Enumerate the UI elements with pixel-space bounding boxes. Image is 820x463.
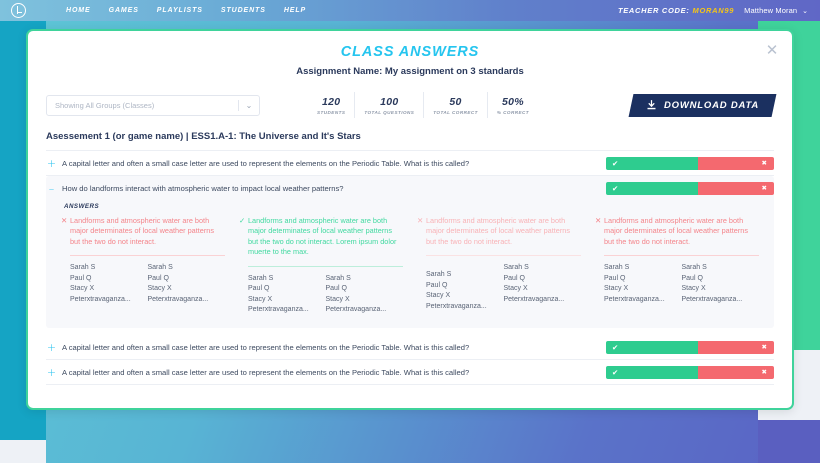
top-navigation-bar: HOME GAMES PLAYLISTS STUDENTS HELP TEACH… xyxy=(0,0,820,21)
student-names: Sarah S Paul Q Stacy X Peterxtravaganza.… xyxy=(604,263,759,305)
x-icon: ✖ xyxy=(762,368,767,376)
answer-option[interactable]: ✕ Landforms and atmospheric water are bo… xyxy=(54,216,232,316)
primary-nav-links: HOME GAMES PLAYLISTS STUDENTS HELP xyxy=(48,7,306,14)
student-name: Paul Q xyxy=(426,281,504,292)
x-icon: ✕ xyxy=(595,216,604,226)
teacher-code-value: MORAN99 xyxy=(693,6,735,15)
student-name: Sarah S xyxy=(248,274,326,285)
stat-label: TOTAL QUESTIONS xyxy=(364,110,414,115)
question-text: A capital letter and often a small case … xyxy=(62,368,606,377)
panel-spacer xyxy=(28,328,792,335)
expand-toggle-icon[interactable]: + xyxy=(46,157,57,170)
question-text: A capital letter and often a small case … xyxy=(62,159,606,168)
student-name: Sarah S xyxy=(70,263,148,274)
stat-label: STUDENTS xyxy=(317,110,345,115)
question-row[interactable]: + A capital letter and often a small cas… xyxy=(46,360,774,385)
student-names-column: Sarah S Paul Q Stacy X Peterxtravaganza.… xyxy=(426,263,504,312)
logo-icon[interactable] xyxy=(11,3,26,18)
x-icon: ✕ xyxy=(61,216,70,226)
x-icon: ✖ xyxy=(762,159,767,167)
check-icon: ✔ xyxy=(612,368,618,377)
assessment-heading: Asessement 1 (or game name) | ESS1.A-1: … xyxy=(46,131,774,151)
x-icon: ✖ xyxy=(762,343,767,351)
student-names: Sarah S Paul Q Stacy X Peterxtravaganza.… xyxy=(248,274,403,316)
student-name: Peterxtravaganza... xyxy=(70,295,148,306)
student-name: Sarah S xyxy=(426,270,504,281)
result-bar-wrong-segment: ✖ xyxy=(698,182,774,195)
answer-text: Landforms and atmospheric water are both… xyxy=(426,216,581,247)
student-names: Sarah S Paul Q Stacy X Peterxtravaganza.… xyxy=(70,263,225,305)
answer-text: Landforms and atmospheric water are both… xyxy=(248,216,403,258)
student-name: Sarah S xyxy=(604,263,682,274)
student-name: Stacy X xyxy=(682,284,760,295)
assignment-name: Assignment Name: My assignment on 3 stan… xyxy=(28,66,792,77)
student-name: Stacy X xyxy=(326,295,404,306)
student-name: Stacy X xyxy=(70,284,148,295)
download-button-label: DOWNLOAD DATA xyxy=(664,100,759,111)
chevron-down-icon[interactable]: ⌄ xyxy=(802,7,808,15)
student-name: Peterxtravaganza... xyxy=(504,295,582,306)
answer-option-header: ✓ Landforms and atmospheric water are bo… xyxy=(239,216,403,258)
student-name: Sarah S xyxy=(682,263,760,274)
answer-divider xyxy=(604,255,759,256)
user-area: TEACHER CODE: MORAN99 Matthew Moran ⌄ xyxy=(618,6,808,15)
answer-option-header: ✕ Landforms and atmospheric water are bo… xyxy=(417,216,581,247)
student-names-column: Sarah S Paul Q Stacy X Peterxtravaganza.… xyxy=(248,274,326,316)
answer-option[interactable]: ✕ Landforms and atmospheric water are bo… xyxy=(410,216,588,316)
stat-label: TOTAL CORRECT xyxy=(433,110,478,115)
student-names-column: Sarah S Paul Q Stacy X Peterxtravaganza.… xyxy=(70,263,148,305)
student-name: Peterxtravaganza... xyxy=(148,295,226,306)
group-filter-value: Showing All Groups (Classes) xyxy=(47,101,238,110)
result-bar-correct-segment: ✔ xyxy=(606,182,698,195)
answer-option-header: ✕ Landforms and atmospheric water are bo… xyxy=(595,216,759,247)
stat-total-questions: 100 TOTAL QUESTIONS xyxy=(354,92,423,118)
group-filter-select[interactable]: Showing All Groups (Classes) ⌄ xyxy=(46,95,260,116)
answers-panel: ANSWERS ✕ Landforms and atmospheric wate… xyxy=(46,200,774,328)
check-icon: ✔ xyxy=(612,159,618,168)
student-name: Sarah S xyxy=(326,274,404,285)
student-name: Stacy X xyxy=(604,284,682,295)
student-name: Peterxtravaganza... xyxy=(426,302,504,313)
student-name: Paul Q xyxy=(504,274,582,285)
student-names-column: Sarah S Paul Q Stacy X Peterxtravaganza.… xyxy=(604,263,682,305)
stat-percent-correct: 50% % CORRECT xyxy=(487,92,538,118)
student-name: Peterxtravaganza... xyxy=(604,295,682,306)
result-bar-correct-segment: ✔ xyxy=(606,341,698,354)
student-name: Sarah S xyxy=(504,263,582,274)
nav-link-students[interactable]: STUDENTS xyxy=(221,7,266,14)
class-answers-modal: ✕ CLASS ANSWERS Assignment Name: My assi… xyxy=(26,29,794,410)
student-name: Paul Q xyxy=(148,274,226,285)
answer-text: Landforms and atmospheric water are both… xyxy=(70,216,225,247)
stat-value: 100 xyxy=(364,96,414,108)
student-names-column: Sarah S Paul Q Stacy X Peterxtravaganza.… xyxy=(682,263,760,305)
student-name: Stacy X xyxy=(248,295,326,306)
expand-toggle-icon[interactable]: + xyxy=(46,366,57,379)
background-block-gray-left xyxy=(0,440,46,463)
answers-grid: ✕ Landforms and atmospheric water are bo… xyxy=(46,216,774,316)
result-bar-correct-segment: ✔ xyxy=(606,157,698,170)
question-text: How do landforms interact with atmospher… xyxy=(62,184,606,193)
student-name: Paul Q xyxy=(604,274,682,285)
nav-link-home[interactable]: HOME xyxy=(66,7,91,14)
background-block-purple-right xyxy=(758,420,820,463)
expand-toggle-icon[interactable]: + xyxy=(46,341,57,354)
stat-total-correct: 50 TOTAL CORRECT xyxy=(423,92,487,118)
controls-row: Showing All Groups (Classes) ⌄ 120 STUDE… xyxy=(46,91,774,119)
answer-option[interactable]: ✓ Landforms and atmospheric water are bo… xyxy=(232,216,410,316)
result-bar[interactable]: ✔ ✖ xyxy=(606,366,774,379)
student-name: Paul Q xyxy=(248,284,326,295)
stat-students: 120 STUDENTS xyxy=(308,92,354,118)
student-names-column: Sarah S Paul Q Stacy X Peterxtravaganza.… xyxy=(326,274,404,316)
result-bar-wrong-segment: ✖ xyxy=(698,157,774,170)
answer-divider xyxy=(248,266,403,267)
nav-link-playlists[interactable]: PLAYLISTS xyxy=(157,7,203,14)
student-name: Peterxtravaganza... xyxy=(682,295,760,306)
answer-option-header: ✕ Landforms and atmospheric water are bo… xyxy=(61,216,225,247)
student-name: Stacy X xyxy=(148,284,226,295)
student-names-column: Sarah S Paul Q Stacy X Peterxtravaganza.… xyxy=(148,263,226,305)
student-names: Sarah S Paul Q Stacy X Peterxtravaganza.… xyxy=(426,263,581,312)
close-icon[interactable]: ✕ xyxy=(764,42,780,58)
question-row[interactable]: + A capital letter and often a small cas… xyxy=(46,335,774,360)
download-icon xyxy=(646,100,657,111)
student-names-column: Sarah S Paul Q Stacy X Peterxtravaganza.… xyxy=(504,263,582,312)
x-icon: ✖ xyxy=(762,184,767,192)
answers-section-label: ANSWERS xyxy=(64,203,774,210)
student-name: Paul Q xyxy=(70,274,148,285)
student-name: Paul Q xyxy=(682,274,760,285)
chevron-down-icon[interactable]: ⌄ xyxy=(239,101,259,110)
nav-link-games[interactable]: GAMES xyxy=(109,7,139,14)
question-row-expanded[interactable]: – How do landforms interact with atmosph… xyxy=(46,176,774,200)
result-bar-wrong-segment: ✖ xyxy=(698,366,774,379)
question-row[interactable]: + A capital letter and often a small cas… xyxy=(46,151,774,176)
stat-label: % CORRECT xyxy=(497,110,529,115)
nav-link-help[interactable]: HELP xyxy=(284,7,306,14)
user-name-label[interactable]: Matthew Moran xyxy=(744,6,797,15)
check-icon: ✓ xyxy=(239,216,248,226)
stat-value: 50 xyxy=(433,96,478,108)
student-name: Peterxtravaganza... xyxy=(326,305,404,316)
result-bar[interactable]: ✔ ✖ xyxy=(606,341,774,354)
page-title: CLASS ANSWERS xyxy=(28,44,792,60)
check-icon: ✔ xyxy=(612,184,618,193)
answer-text: Landforms and atmospheric water are both… xyxy=(604,216,759,247)
student-name: Sarah S xyxy=(148,263,226,274)
answer-option[interactable]: ✕ Landforms and atmospheric water are bo… xyxy=(588,216,766,316)
stat-value: 50% xyxy=(497,96,529,108)
teacher-code-label: TEACHER CODE: xyxy=(618,6,690,15)
x-icon: ✕ xyxy=(417,216,426,226)
student-name: Paul Q xyxy=(326,284,404,295)
result-bar[interactable]: ✔ ✖ xyxy=(606,157,774,170)
student-name: Peterxtravaganza... xyxy=(248,305,326,316)
summary-stats: 120 STUDENTS 100 TOTAL QUESTIONS 50 TOTA… xyxy=(308,92,538,118)
check-icon: ✔ xyxy=(612,343,618,352)
student-name: Stacy X xyxy=(504,284,582,295)
download-button-content: DOWNLOAD DATA xyxy=(646,100,759,111)
stat-value: 120 xyxy=(317,96,345,108)
result-bar-wrong-segment: ✖ xyxy=(698,341,774,354)
student-name: Stacy X xyxy=(426,291,504,302)
result-bar[interactable]: ✔ ✖ xyxy=(606,182,774,195)
answer-divider xyxy=(426,255,581,256)
answer-divider xyxy=(70,255,225,256)
collapse-toggle-icon[interactable]: – xyxy=(46,182,57,195)
question-text: A capital letter and often a small case … xyxy=(62,343,606,352)
result-bar-correct-segment: ✔ xyxy=(606,366,698,379)
download-data-button[interactable]: DOWNLOAD DATA xyxy=(629,94,777,117)
